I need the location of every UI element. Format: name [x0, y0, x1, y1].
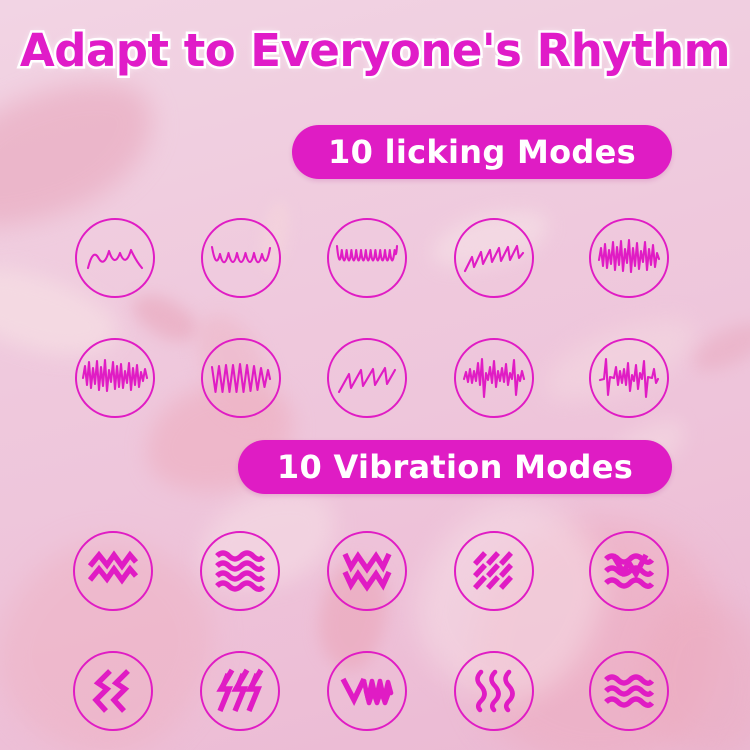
product-infographic-poster: Adapt to Everyone's Rhythm 10 licking Mo… — [0, 0, 750, 750]
wave-medium-frequency-sine-icon — [201, 218, 281, 298]
page-title: Adapt to Everyone's Rhythm — [0, 24, 750, 77]
badge-licking-label: 10 licking Modes — [328, 133, 636, 171]
vibration-v-to-zigzag-icon — [327, 651, 407, 731]
vibration-waves-with-chevron-icon — [589, 531, 669, 611]
vibration-diagonal-dashes-icon — [454, 531, 534, 611]
licking-mode-2[interactable] — [201, 218, 281, 298]
licking-mode-4[interactable] — [454, 218, 534, 298]
wave-high-frequency-sine-icon — [327, 218, 407, 298]
vibration-four-wavy-lines-icon — [200, 531, 280, 611]
vibration-mode-5[interactable] — [589, 531, 669, 611]
licking-mode-3[interactable] — [327, 218, 407, 298]
licking-mode-1[interactable] — [75, 218, 155, 298]
wave-dense-irregular-amplitude-icon — [589, 218, 669, 298]
vibration-lightning-bolts-icon — [200, 651, 280, 731]
badge-vibration-modes: 10 Vibration Modes — [238, 440, 672, 494]
vibration-mode-6[interactable] — [73, 651, 153, 731]
licking-mode-6[interactable] — [75, 338, 155, 418]
vibration-stacked-w-icon — [327, 531, 407, 611]
vibration-double-chevron-wave-icon — [73, 531, 153, 611]
licking-mode-9[interactable] — [454, 338, 534, 418]
wave-spiked-pulse-icon — [454, 338, 534, 418]
vibration-horizontal-wavy-lines-icon — [589, 651, 669, 731]
vibration-mode-8[interactable] — [327, 651, 407, 731]
vibration-mode-2[interactable] — [200, 531, 280, 611]
wave-low-frequency-sine-icon — [75, 218, 155, 298]
vibration-mode-7[interactable] — [200, 651, 280, 731]
licking-mode-10[interactable] — [589, 338, 669, 418]
vibration-vertical-wavy-lines-icon — [454, 651, 534, 731]
wave-burst-pulse-icon — [589, 338, 669, 418]
licking-mode-8[interactable] — [327, 338, 407, 418]
badge-vibration-label: 10 Vibration Modes — [277, 448, 633, 486]
wave-dense-zigzag-icon — [75, 338, 155, 418]
wave-rising-sawtooth-icon — [454, 218, 534, 298]
wave-sawtooth-ramp-icon — [327, 338, 407, 418]
vibration-modes-grid — [0, 518, 750, 750]
vibration-mode-3[interactable] — [327, 531, 407, 611]
badge-licking-modes: 10 licking Modes — [292, 125, 672, 179]
vibration-mode-9[interactable] — [454, 651, 534, 731]
vibration-mode-4[interactable] — [454, 531, 534, 611]
vibration-mode-10[interactable] — [589, 651, 669, 731]
wave-triangular-zigzag-icon — [201, 338, 281, 418]
licking-mode-7[interactable] — [201, 338, 281, 418]
vibration-double-zigzag-bolt-icon — [73, 651, 153, 731]
licking-mode-5[interactable] — [589, 218, 669, 298]
licking-modes-grid — [0, 205, 750, 435]
vibration-mode-1[interactable] — [73, 531, 153, 611]
